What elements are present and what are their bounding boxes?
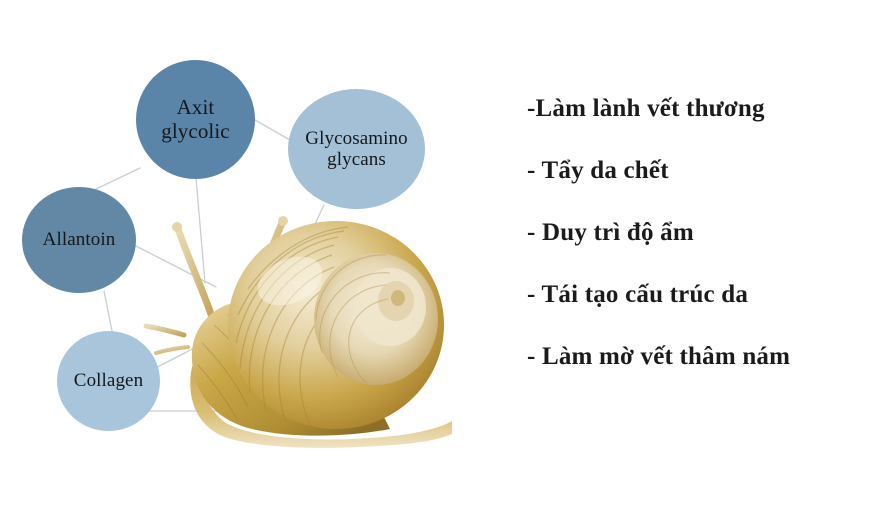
snail-illustration	[140, 185, 480, 460]
ingredient-diagram: Axit glycolic Glycosamino glycans Allant…	[0, 0, 500, 521]
link-allantoin-to-collagen	[104, 291, 112, 331]
link-axit-to-glyco	[255, 120, 290, 140]
infographic-canvas: Axit glycolic Glycosamino glycans Allant…	[0, 0, 880, 521]
node-allantoin[interactable]: Allantoin	[22, 187, 136, 293]
snail-shell	[228, 221, 444, 429]
node-glycosaminoglycans[interactable]: Glycosamino glycans	[288, 89, 425, 209]
link-axit-to-allantoin	[92, 168, 140, 191]
node-collagen[interactable]: Collagen	[57, 331, 160, 431]
benefit-item: - Duy trì độ ẩm	[527, 220, 872, 245]
benefits-list: -Làm lành vết thương - Tẩy da chết - Duy…	[527, 96, 872, 369]
benefit-item: - Tẩy da chết	[527, 158, 872, 183]
benefit-item: - Làm mờ vết thâm nám	[527, 344, 872, 369]
node-allantoin-label: Allantoin	[39, 229, 120, 250]
node-axit-glycolic-label: Axit glycolic	[157, 96, 233, 143]
benefit-item: -Làm lành vết thương	[527, 96, 872, 121]
benefit-item: - Tái tạo cấu trúc da	[527, 282, 872, 307]
node-axit-glycolic[interactable]: Axit glycolic	[136, 60, 255, 179]
node-glycosaminoglycans-label: Glycosamino glycans	[301, 128, 411, 171]
node-collagen-label: Collagen	[70, 370, 147, 391]
